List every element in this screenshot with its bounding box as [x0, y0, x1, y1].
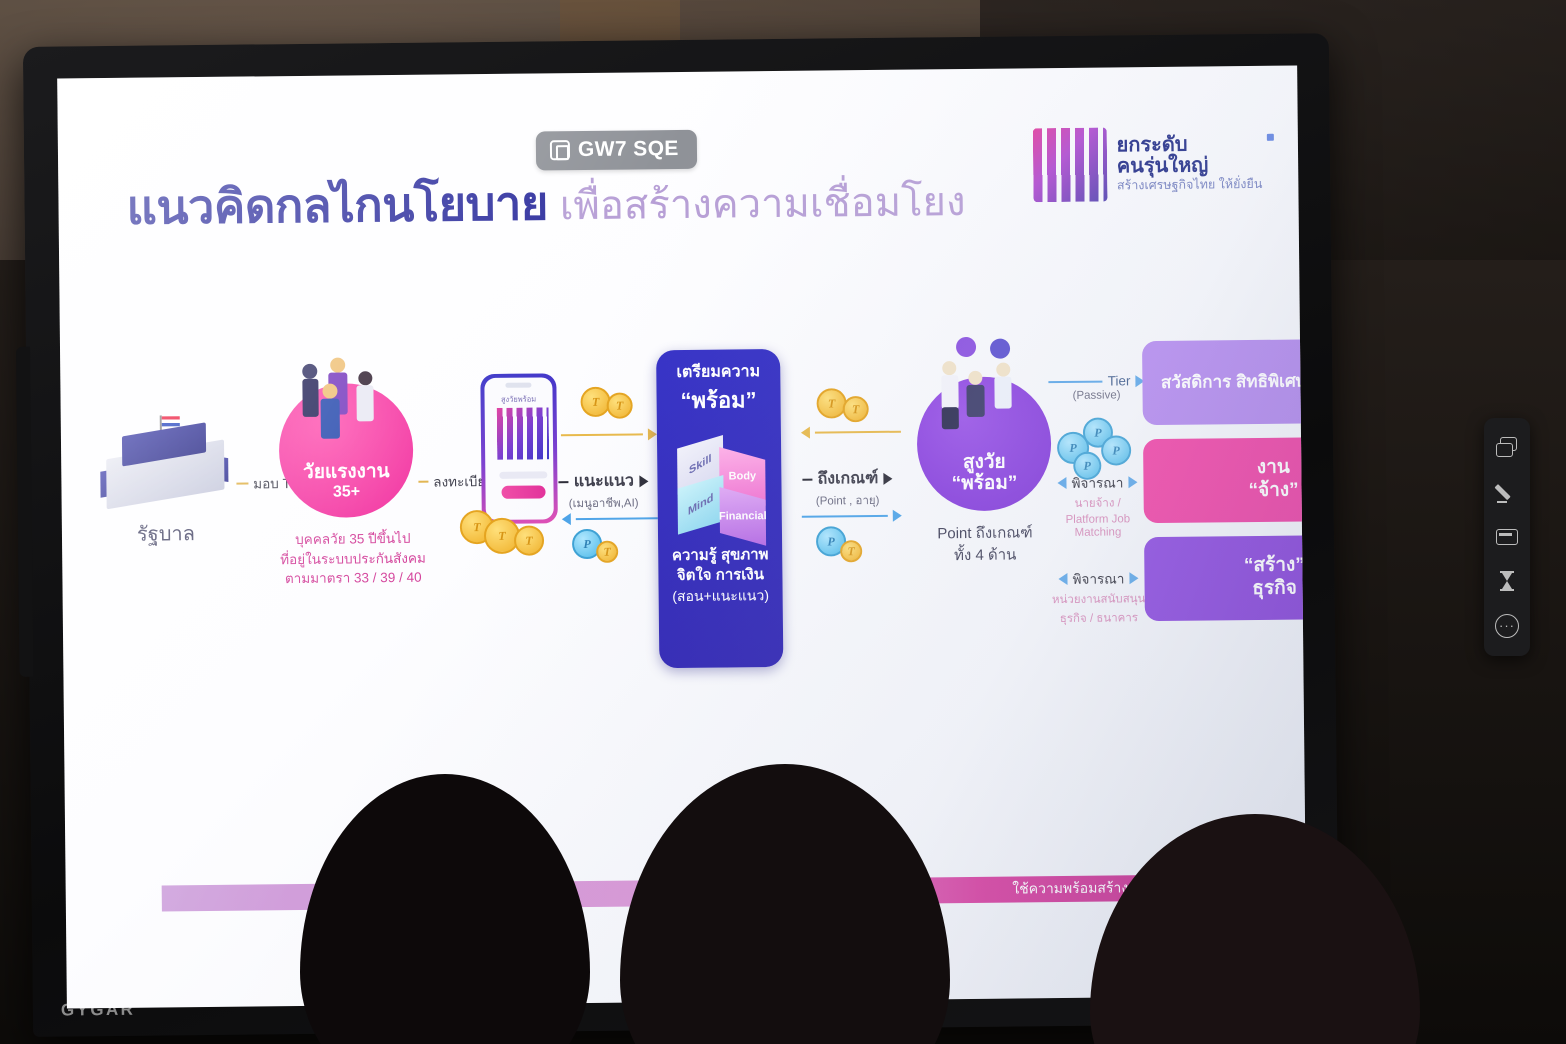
slide-badge-label: GW7 SQE — [578, 137, 679, 162]
puzzle-icon: Skill Body Mind Financial — [671, 423, 768, 542]
puzzle-piece-financial: Financial — [720, 487, 767, 546]
senior-people-illustration — [916, 350, 1051, 437]
connector-consider-employer-sub2: Platform Job — [1046, 513, 1150, 526]
outcome-welfare: สวัสดิการ สิทธิพิเศษ ช่วยสังคม — [1142, 338, 1307, 425]
phone-placeholder-bar — [499, 471, 547, 479]
outcome-welfare-label: สวัสดิการ สิทธิพิเศษ ช่วยสังคม — [1161, 370, 1307, 393]
phone-app-title: สูงวัยพร้อม — [485, 393, 553, 406]
prep-line4: จิตใจ การเงิน — [677, 565, 764, 585]
connector-criteria-label: ถึงเกณฑ์ — [817, 466, 878, 492]
connector-consider-business-label: พิจารณา — [1072, 567, 1124, 590]
worker-circle-line2: 35+ — [333, 483, 360, 501]
connector-tier-sub: (Passive) — [1049, 389, 1145, 402]
photo-scene: GYGAR GW7 SQE แนวคิดกลไกนโยบายเพื่อสร้าง… — [0, 0, 1566, 1044]
connector-consider-employer-sub1: นายจ้าง / — [1046, 494, 1150, 513]
connector-criteria-sub: (Point , อายุ) — [792, 492, 904, 511]
policy-flow-diagram: รัฐบาล มอบ Token — [60, 366, 1304, 779]
pencil-icon[interactable] — [1494, 480, 1520, 506]
connector-consider-business: พิจารณา หน่วยงานสนับสนุน ธุรกิจ / ธนาคาร — [1046, 567, 1151, 628]
more-dots-icon[interactable]: ··· — [1494, 613, 1520, 639]
connector-criteria: ถึงเกณฑ์ (Point , อายุ) — [791, 466, 903, 511]
government-building-icon — [100, 415, 231, 512]
senior-circle-line1: สูงวัย — [963, 453, 1006, 474]
connector-consider-employer-sub3: Matching — [1046, 526, 1150, 539]
flow-node-preparation: เตรียมความ “พร้อม” Skill Body Mind Finan… — [656, 349, 783, 668]
prep-line3: ความรู้ สุขภาพ — [672, 545, 769, 566]
worker-caption-line2: ที่อยู่ในระบบประกันสังคม — [280, 548, 426, 569]
flow-node-government: รัฐบาล — [95, 415, 236, 550]
page-title: แนวคิดกลไกนโยบายเพื่อสร้างความเชื่อมโยง — [126, 161, 966, 245]
worker-circle: วัยแรงงาน 35+ — [278, 383, 413, 518]
worker-caption-line1: บุคคลวัย 35 ปีขึ้นไป — [280, 529, 426, 550]
prep-line1: เตรียมความ — [676, 363, 760, 382]
flow-node-worker: วัยแรงงาน 35+ บุคคลวัย 35 ปีขึ้นไป ที่อย… — [278, 383, 426, 589]
handshake-icon — [1306, 539, 1307, 616]
smartphone-icon: สูงวัยพร้อม — [480, 373, 558, 524]
logo-line1: ยกระดับ — [1116, 134, 1262, 157]
prep-line2: “พร้อม” — [680, 383, 756, 419]
connector-consider-employer-label: พิจารณา — [1071, 471, 1123, 494]
flow-node-senior: สูงวัย “พร้อม” Point ถึงเกณฑ์ ทั้ง 4 ด้า… — [916, 376, 1052, 567]
presentation-icon — [550, 140, 570, 160]
connector-guide-label: แนะแนว — [574, 468, 634, 494]
connector-guide: แนะแนว (เมนูอาชีพ,AI) — [549, 468, 657, 513]
worker-circle-caption: บุคคลวัย 35 ปีขึ้นไป ที่อยู่ในระบบประกัน… — [280, 529, 426, 589]
logo-text: ยกระดับ คนรุ่นใหญ่ สร้างเศรษฐกิจไทย ให้ย… — [1116, 134, 1262, 193]
campaign-logo: ยกระดับ คนรุ่นใหญ่ สร้างเศรษฐกิจไทย ให้ย… — [1032, 126, 1262, 202]
logo-line2: คนรุ่นใหญ่ — [1117, 155, 1263, 178]
flow-node-app: สูงวัยพร้อม T T T — [480, 373, 558, 524]
phone-screen: สูงวัยพร้อม — [484, 377, 553, 520]
connector-criteria-coins-down: P T — [802, 510, 903, 565]
display-side-toolbar[interactable]: ··· — [1484, 418, 1530, 656]
display-side-nub — [16, 347, 33, 677]
connector-guide-sub: (เมนูอาชีพ,AI) — [550, 494, 658, 513]
senior-caption-line1: Point ถึงเกณฑ์ — [918, 522, 1052, 545]
phone-app-logo-icon — [497, 407, 550, 460]
connector-consider-business-sub2: ธุรกิจ / ธนาคาร — [1047, 609, 1151, 628]
connector-tier: Tier (Passive) — [1048, 373, 1144, 402]
connector-consider-employer: พิจารณา นายจ้าง / Platform Job Matching — [1045, 471, 1150, 539]
page-title-main: แนวคิดกลไกนโยบาย — [126, 176, 548, 233]
outcome-employment: งาน “จ้าง” — [1143, 436, 1307, 523]
phone-cta-button — [501, 485, 545, 498]
page-title-sub: เพื่อสร้างความเชื่อมโยง — [560, 180, 966, 228]
outcome-list: สวัสดิการ สิทธิพิเศษ ช่วยสังคม งาน “จ้าง… — [1142, 338, 1307, 635]
connector-guide-coins-down: P T — [562, 512, 659, 567]
connector-tier-label: Tier — [1108, 373, 1131, 388]
connector-guide-coins-up: T T — [560, 390, 657, 441]
hourglass-icon[interactable] — [1494, 568, 1520, 594]
senior-caption-line2: ทั้ง 4 ด้าน — [918, 544, 1052, 567]
eraser-card-icon[interactable] — [1494, 524, 1520, 550]
windows-copy-icon[interactable] — [1494, 435, 1520, 461]
connector-criteria-coins-up: T T — [800, 388, 901, 439]
senior-circle: สูงวัย “พร้อม” — [916, 376, 1051, 511]
logo-mark-icon — [1032, 128, 1107, 203]
logo-tagline: สร้างเศรษฐกิจไทย ให้ยั่งยืน — [1117, 178, 1263, 193]
outcome-employment-line2: “จ้าง” — [1248, 480, 1298, 503]
outcome-business-line1: “สร้าง” — [1244, 555, 1305, 578]
senior-circle-caption: Point ถึงเกณฑ์ ทั้ง 4 ด้าน — [918, 522, 1052, 567]
outcome-employment-line1: งาน — [1248, 457, 1298, 480]
phone-notch — [505, 383, 531, 388]
worker-caption-line3: ตามมาตรา 33 / 39 / 40 — [280, 568, 426, 589]
government-label: รัฐบาล — [96, 517, 236, 550]
worker-circle-line1: วัยแรงงาน — [303, 462, 390, 484]
senior-circle-line2: “พร้อม” — [952, 474, 1018, 496]
connector-consider-business-sub1: หน่วยงานสนับสนุน — [1047, 590, 1151, 609]
worker-people-illustration — [278, 357, 413, 444]
outcome-business: “สร้าง” ธุรกิจ — [1144, 534, 1307, 621]
outcome-business-line2: ธุรกิจ — [1244, 577, 1305, 600]
prep-line5: (สอน+แนะแนว) — [672, 585, 769, 608]
